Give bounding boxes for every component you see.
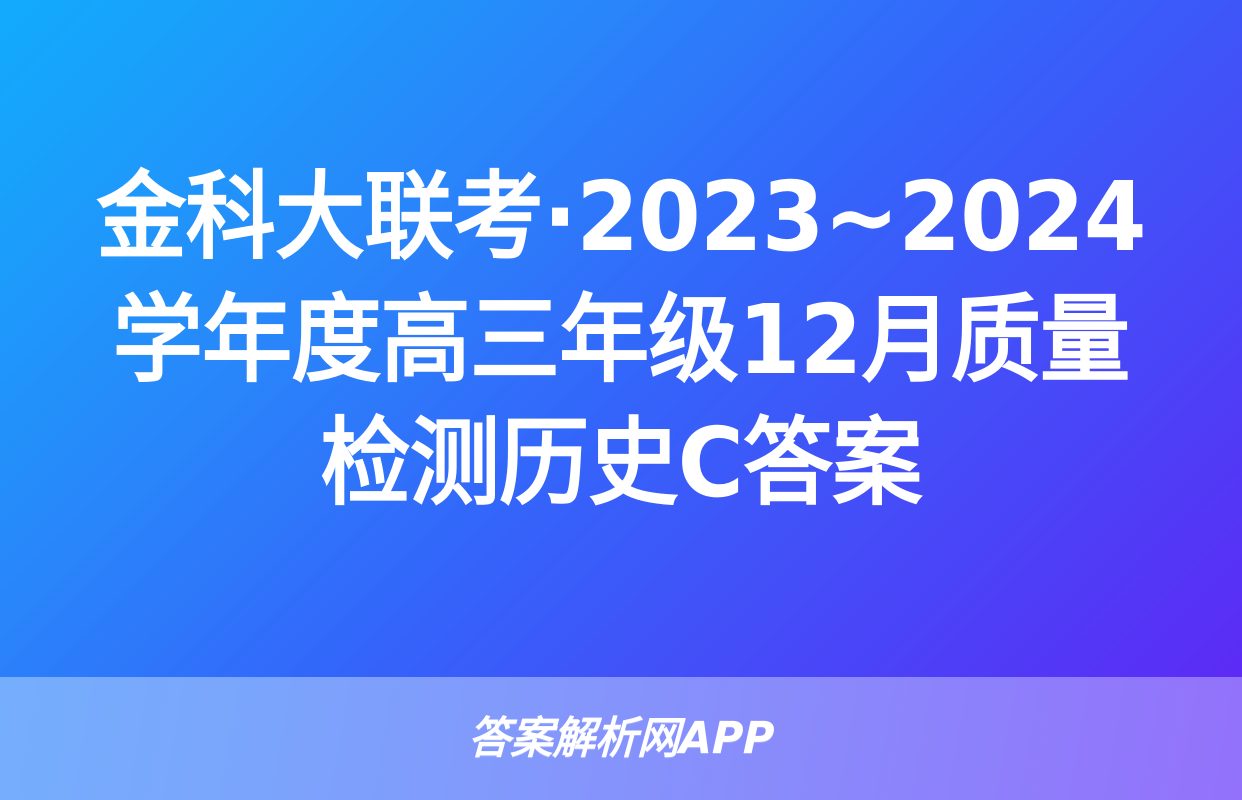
footer-brand-band: 答案解析网APP [0,677,1242,800]
hero-banner: 金科大联考·2023~2024学年度高三年级12月质量检测历史C答案 [0,0,1242,677]
page-title: 金科大联考·2023~2024学年度高三年级12月质量检测历史C答案 [75,152,1167,525]
brand-watermark: 答案解析网APP [467,717,774,761]
cover-image-canvas: 金科大联考·2023~2024学年度高三年级12月质量检测历史C答案 答案解析网… [0,0,1242,800]
